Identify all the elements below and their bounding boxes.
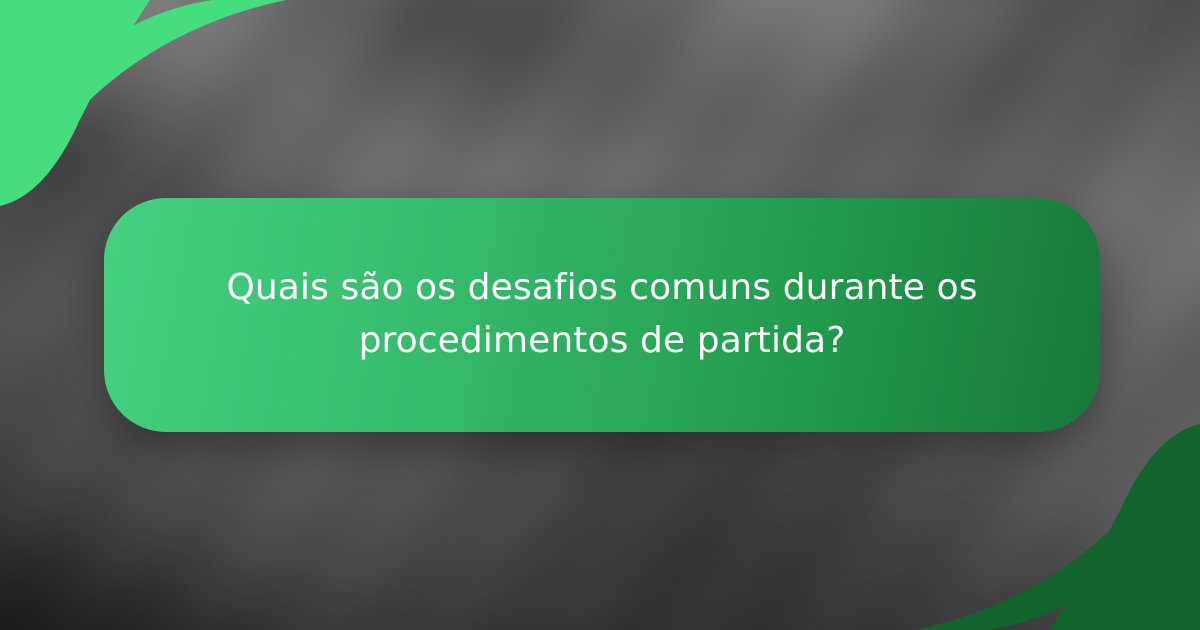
question-card: Quais são os desafios comuns durante os … — [104, 198, 1100, 432]
question-text: Quais são os desafios comuns durante os … — [178, 262, 1026, 368]
share-card-canvas: Quais são os desafios comuns durante os … — [0, 0, 1200, 630]
